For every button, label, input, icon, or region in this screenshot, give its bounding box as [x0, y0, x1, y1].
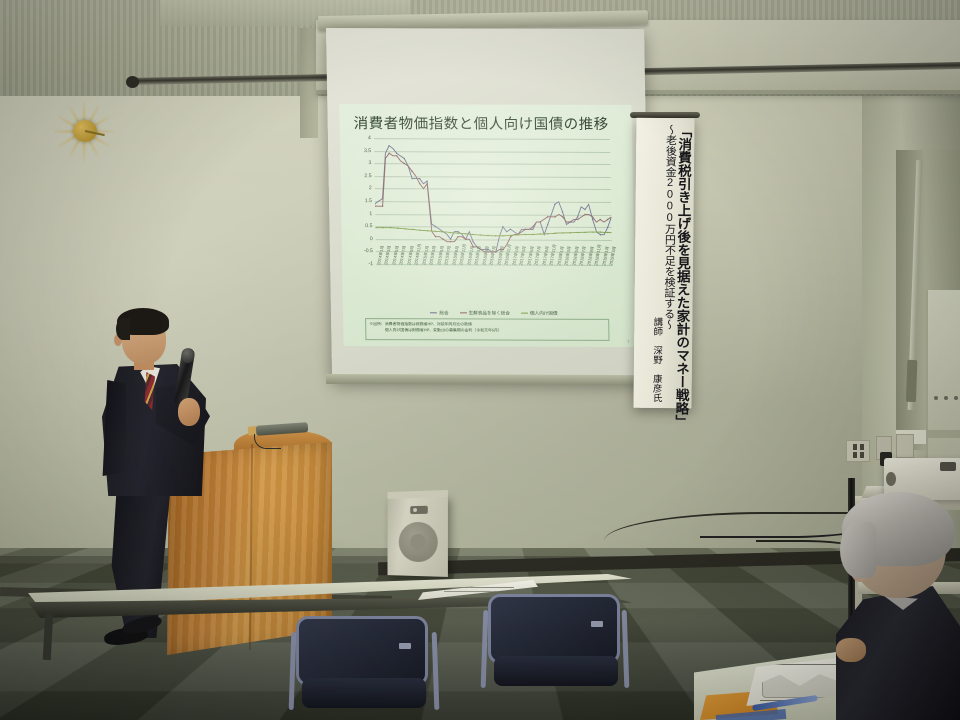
- chart-data-point: [600, 231, 602, 233]
- chart-y-tick-label: 2: [369, 186, 372, 192]
- chart-data-point: [577, 232, 579, 234]
- chart-data-point: [450, 241, 452, 243]
- clock-icon: [46, 92, 124, 170]
- chart-data-point: [404, 158, 406, 160]
- projected-slide: 消費者物価指数と個人向け国債の推移 43.532.521.510.50-0.5-…: [339, 104, 635, 347]
- chart-data-point: [555, 233, 557, 235]
- chart-data-point: [487, 235, 489, 237]
- banner-speaker-credit: 講師 深野 康彦氏: [651, 316, 662, 402]
- chart-data-point: [390, 227, 392, 229]
- slide-source-note: ※出所：消費者物価指数は総務省HP、対前年同月比の数値 個人向け国債は財務省HP…: [365, 318, 609, 341]
- chart-data-point: [450, 232, 452, 234]
- chair-seat: [302, 678, 426, 708]
- mic-cable: [254, 434, 281, 449]
- chart-data-point: [435, 226, 437, 228]
- chart-data-point: [396, 153, 398, 155]
- chart-y-tick-label: 4: [368, 135, 371, 141]
- chart-data-point: [592, 219, 594, 221]
- chart-data-point: [592, 231, 594, 233]
- chart-legend-swatch: [460, 312, 467, 314]
- pa-speaker-control-knob[interactable]: [410, 506, 428, 514]
- chart-legend-label: 総合: [439, 310, 448, 316]
- banner-main-title: 「消費税引き上げ後を見据えた家計のマネー戦略」: [674, 124, 691, 402]
- projector-lens-icon: [886, 472, 896, 486]
- pa-speaker-top: [387, 490, 447, 499]
- chart-data-point: [562, 216, 564, 218]
- chart-y-tick-label: 1: [369, 211, 372, 217]
- chart-data-point: [457, 231, 459, 233]
- chart-data-point: [502, 235, 504, 237]
- chart-data-point: [442, 238, 444, 240]
- chart-data-point: [547, 233, 549, 235]
- chart-data-point: [495, 235, 497, 237]
- slide-title: 消費者物価指数と個人向け国債の推移: [353, 112, 625, 134]
- chart-y-tick-label: 1.5: [365, 198, 372, 204]
- chart-legend-swatch: [521, 312, 528, 314]
- chart-y-tick-label: 0.5: [365, 223, 372, 229]
- chair[interactable]: [288, 616, 440, 720]
- banner-text-block: 「消費税引き上げ後を見据えた家計のマネー戦略」 ～老後資金2000万円不足を検証…: [634, 124, 695, 403]
- chart-data-point: [397, 227, 399, 229]
- chart-data-point: [562, 232, 564, 234]
- wall-cabinet-tray: [926, 430, 960, 438]
- chart-data-point: [412, 229, 414, 231]
- photo-scene: 消費者物価指数と個人向け国債の推移 43.532.521.510.50-0.5-…: [0, 0, 960, 720]
- chart-data-point: [532, 234, 534, 236]
- chart-data-point: [382, 205, 384, 207]
- chart-data-point: [540, 233, 542, 235]
- chart-y-tick-label: 3.5: [364, 148, 371, 154]
- chart-y-tick-label: -1: [368, 261, 373, 267]
- chart-series-line: [375, 228, 611, 237]
- chair-backrest: [488, 594, 620, 664]
- chart-data-point: [411, 170, 413, 172]
- chair-backrest: [296, 616, 428, 686]
- chart-data-point: [480, 234, 482, 236]
- chart-data-point: [472, 234, 474, 236]
- chart-data-point: [374, 205, 376, 207]
- chart-legend-item: 個人向け国債: [521, 310, 558, 316]
- chart-data-point: [465, 233, 467, 235]
- chair-frame-right: [432, 632, 440, 710]
- chart-series-line: [374, 146, 612, 253]
- chair-seat: [494, 656, 618, 686]
- chart-data-point: [435, 236, 437, 238]
- chart-y-tick-label: 0: [370, 236, 373, 242]
- pa-speaker-cabinet: [387, 495, 447, 577]
- chart-data-point: [419, 183, 421, 185]
- chart-data-point: [419, 178, 421, 180]
- event-banner: 「消費税引き上げ後を見据えた家計のマネー戦略」 ～老後資金2000万円不足を検証…: [633, 118, 694, 409]
- chart-data-point: [405, 228, 407, 230]
- chart-legend-label: 個人向け国債: [530, 310, 558, 316]
- chart-legend-item: 総合: [430, 310, 448, 316]
- chart-y-tick-label: -0.5: [364, 248, 373, 254]
- presenter-hair-side: [116, 318, 130, 340]
- chart-data-point: [382, 227, 384, 229]
- chart-legend-item: 生鮮食品を除く総合: [460, 310, 510, 316]
- chart-data-point: [525, 234, 527, 236]
- chart-legend-swatch: [430, 312, 437, 314]
- chart-data-point: [396, 155, 398, 157]
- chart-legend: 総合生鮮食品を除く総合個人向け国債: [389, 308, 599, 318]
- chart-data-point: [427, 230, 429, 232]
- chair-frame-right: [622, 610, 630, 688]
- chart-y-tick-label: 2.5: [364, 173, 371, 179]
- slide-page-number: 7: [627, 339, 629, 344]
- chart-data-point: [420, 230, 422, 232]
- chart-data-point: [411, 178, 413, 180]
- chart-data-point: [472, 241, 474, 243]
- chart-x-axis-labels: 2014年1月2014年3月2014年5月2014年7月2014年9月2014年…: [376, 264, 613, 307]
- chart-data-point: [600, 234, 602, 236]
- chart-data-point: [457, 232, 459, 234]
- source-note-line-2: 個人向け国債は財務省HP、変動10の募集期の金利（令和元年5月）: [369, 327, 605, 334]
- wall-outlet-1[interactable]: [846, 440, 870, 462]
- chart-data-point: [562, 211, 564, 213]
- chair[interactable]: [480, 594, 630, 698]
- attendee-hair-side: [840, 522, 876, 578]
- chart-data-point: [585, 232, 587, 234]
- chart-data-point: [435, 231, 437, 233]
- chart-y-tick-label: 3: [368, 160, 371, 166]
- presenter-hand: [178, 398, 200, 426]
- chart-series-line: [374, 153, 612, 252]
- pa-speaker-woofer-icon: [399, 522, 438, 563]
- attendee-hand: [836, 638, 866, 662]
- wall-outlet-3[interactable]: [896, 434, 914, 458]
- attendee: [836, 492, 960, 720]
- chart-data-point: [375, 227, 377, 229]
- chart-data-point: [510, 235, 512, 237]
- handout-chart-figure: [762, 672, 844, 698]
- curtain-rail-end-cap: [126, 76, 139, 88]
- chart-data-point: [570, 232, 572, 234]
- chart-data-point: [404, 163, 406, 165]
- projection-screen: 消費者物価指数と個人向け国債の推移 43.532.521.510.50-0.5-…: [326, 28, 650, 381]
- screen-bottom-bar: [326, 374, 644, 385]
- chart-legend-label: 生鮮食品を除く総合: [469, 310, 510, 316]
- chart-data-point: [607, 232, 609, 234]
